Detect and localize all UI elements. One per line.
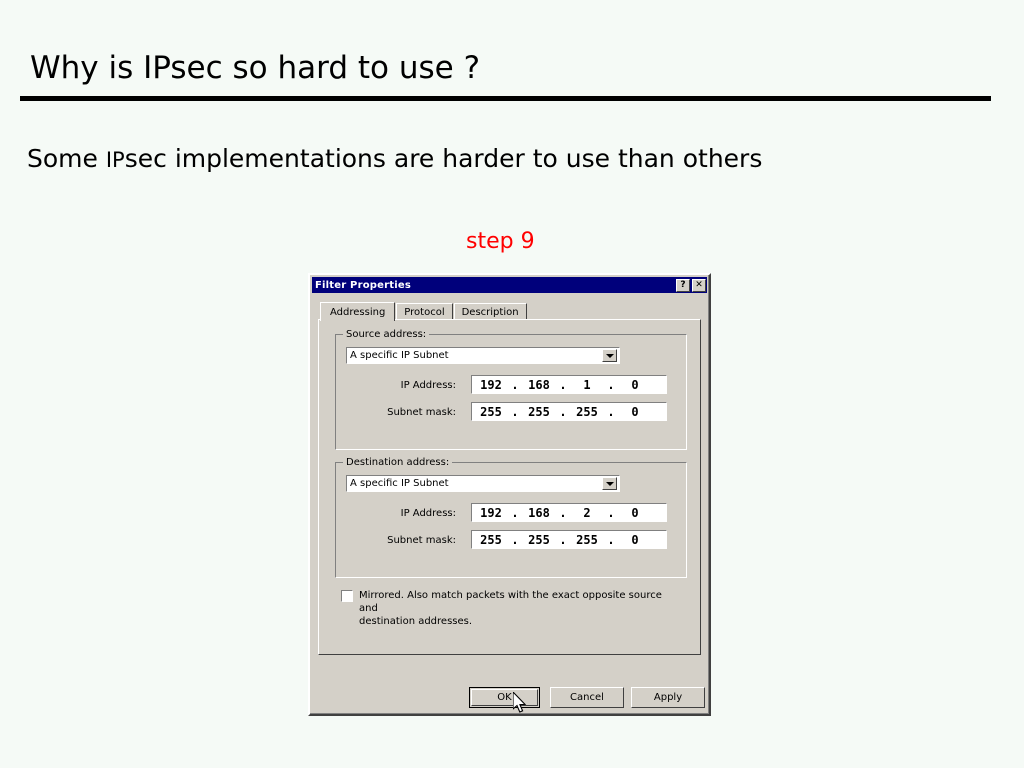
source-ip-address-label: IP Address: <box>366 380 456 391</box>
filter-properties-dialog: Filter Properties ? ✕ Addressing Protoco… <box>308 273 711 716</box>
dialog-button-row: OK Cancel Apply <box>310 687 709 709</box>
destination-address-type-value: A specific IP Subnet <box>347 478 602 489</box>
subtitle-part-c: sec implementations are harder to use th… <box>125 144 763 173</box>
chevron-down-icon[interactable] <box>602 477 617 490</box>
mirrored-label-line2: destination addresses. <box>359 616 472 627</box>
mirrored-checkbox-label: Mirrored. Also match packets with the ex… <box>359 589 679 628</box>
mirrored-checkbox-row[interactable]: Mirrored. Also match packets with the ex… <box>341 589 679 628</box>
destination-ip-address-input[interactable]: 192 . 168 . 2 . 0 <box>471 503 667 522</box>
ip-octet[interactable]: 255 <box>472 533 510 547</box>
tab-addressing[interactable]: Addressing <box>320 302 395 321</box>
ip-dot: . <box>558 533 568 547</box>
ip-dot: . <box>606 378 616 392</box>
ip-octet[interactable]: 168 <box>520 506 558 520</box>
mirrored-checkbox[interactable] <box>341 590 353 602</box>
cancel-button-label: Cancel <box>570 692 604 703</box>
destination-subnet-mask-input[interactable]: 255 . 255 . 255 . 0 <box>471 530 667 549</box>
ip-dot: . <box>606 506 616 520</box>
source-subnet-mask-input[interactable]: 255 . 255 . 255 . 0 <box>471 402 667 421</box>
destination-subnet-mask-label: Subnet mask: <box>356 535 456 546</box>
ip-octet[interactable]: 0 <box>616 378 654 392</box>
title-divider <box>20 96 991 101</box>
chevron-down-icon[interactable] <box>602 349 617 362</box>
tab-addressing-label: Addressing <box>330 307 385 318</box>
ip-dot: . <box>510 506 520 520</box>
ip-octet[interactable]: 0 <box>616 405 654 419</box>
ip-dot: . <box>510 533 520 547</box>
source-ip-address-input[interactable]: 192 . 168 . 1 . 0 <box>471 375 667 394</box>
ip-octet[interactable]: 192 <box>472 378 510 392</box>
ok-button[interactable]: OK <box>469 687 540 708</box>
slide-subtitle: Some IPsec implementations are harder to… <box>27 144 762 173</box>
ip-octet[interactable]: 255 <box>568 533 606 547</box>
subtitle-part-ip: IP <box>106 148 125 172</box>
destination-address-legend: Destination address: <box>343 457 452 468</box>
apply-button-label: Apply <box>654 692 682 703</box>
subtitle-part-a: Some <box>27 144 106 173</box>
ip-dot: . <box>510 378 520 392</box>
ip-octet[interactable]: 255 <box>568 405 606 419</box>
destination-address-group: Destination address: A specific IP Subne… <box>335 462 687 578</box>
dialog-title: Filter Properties <box>315 280 674 291</box>
ip-dot: . <box>558 405 568 419</box>
tab-description[interactable]: Description <box>454 303 527 320</box>
ip-octet[interactable]: 2 <box>568 506 606 520</box>
ip-octet[interactable]: 0 <box>616 506 654 520</box>
source-address-type-value: A specific IP Subnet <box>347 350 602 361</box>
ip-octet[interactable]: 192 <box>472 506 510 520</box>
ip-octet[interactable]: 255 <box>520 405 558 419</box>
step-label: step 9 <box>466 229 535 254</box>
ip-octet[interactable]: 0 <box>616 533 654 547</box>
dialog-titlebar[interactable]: Filter Properties ? ✕ <box>312 277 707 293</box>
page-title: Why is IPsec so hard to use ? <box>30 50 480 86</box>
source-address-legend: Source address: <box>343 329 429 340</box>
destination-address-type-select[interactable]: A specific IP Subnet <box>346 475 620 492</box>
tab-protocol-label: Protocol <box>404 307 444 318</box>
tabstrip: Addressing Protocol Description <box>320 302 528 320</box>
ip-octet[interactable]: 255 <box>472 405 510 419</box>
ip-dot: . <box>558 378 568 392</box>
source-address-type-select[interactable]: A specific IP Subnet <box>346 347 620 364</box>
ok-button-label: OK <box>497 692 511 703</box>
close-icon[interactable]: ✕ <box>692 279 706 292</box>
cancel-button[interactable]: Cancel <box>550 687 624 708</box>
apply-button[interactable]: Apply <box>631 687 705 708</box>
source-subnet-mask-label: Subnet mask: <box>356 407 456 418</box>
mirrored-label-line1: Mirrored. Also match packets with the ex… <box>359 590 662 614</box>
ip-octet[interactable]: 1 <box>568 378 606 392</box>
source-address-group: Source address: A specific IP Subnet IP … <box>335 334 687 450</box>
help-icon[interactable]: ? <box>676 279 690 292</box>
destination-ip-address-label: IP Address: <box>366 508 456 519</box>
tab-protocol[interactable]: Protocol <box>396 303 452 320</box>
ip-dot: . <box>606 533 616 547</box>
ip-dot: . <box>510 405 520 419</box>
ip-dot: . <box>606 405 616 419</box>
ip-dot: . <box>558 506 568 520</box>
ip-octet[interactable]: 255 <box>520 533 558 547</box>
addressing-tab-panel: Source address: A specific IP Subnet IP … <box>318 319 701 655</box>
tab-description-label: Description <box>462 307 519 318</box>
ip-octet[interactable]: 168 <box>520 378 558 392</box>
